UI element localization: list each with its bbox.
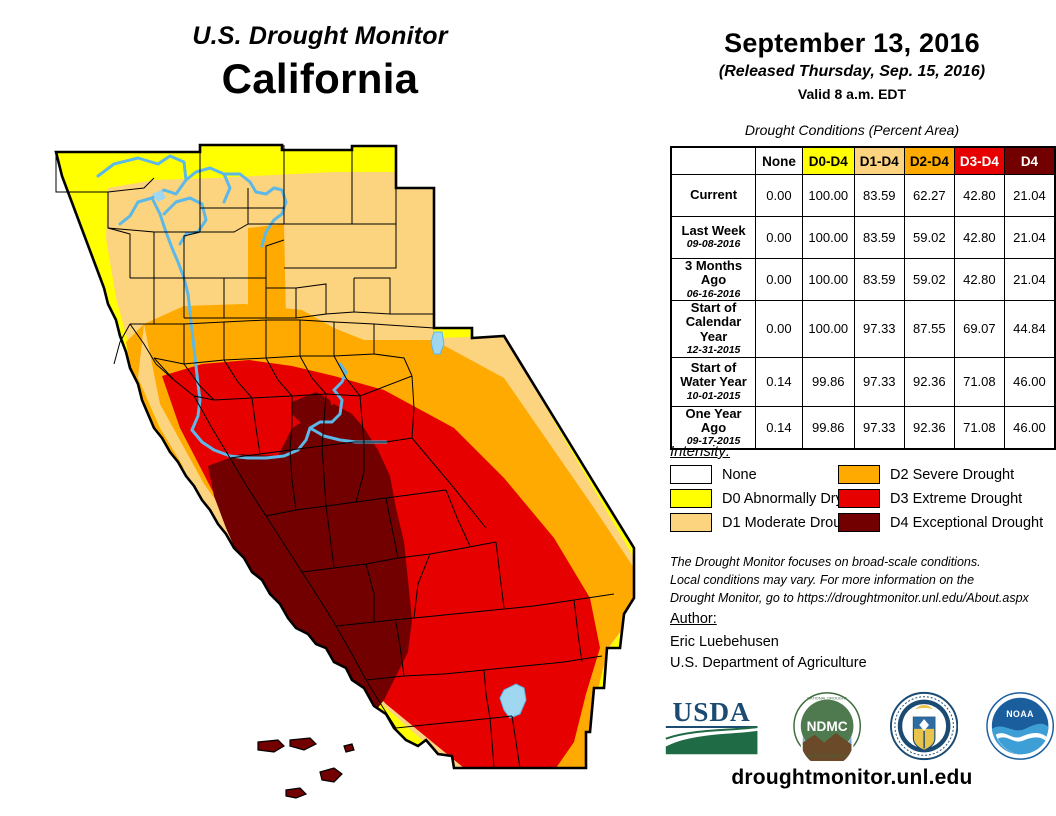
drought-conditions-table: None D0-D4 D1-D4 D2-D4 D3-D4 D4 Current0… — [670, 146, 1056, 450]
website-url[interactable]: droughtmonitor.unl.edu — [648, 766, 1056, 790]
note-line-1: The Drought Monitor focuses on broad-sca… — [670, 553, 1029, 571]
legend-item-right-2: D4 Exceptional Drought — [838, 513, 1043, 532]
cell-r0-c2: 83.59 — [854, 175, 904, 217]
release-date: (Released Thursday, Sep. 15, 2016) — [648, 63, 1056, 81]
cell-r3-c5: 44.84 — [1004, 301, 1055, 357]
legend-swatch — [670, 513, 712, 532]
legend-label: D3 Extreme Drought — [890, 491, 1022, 507]
legend-label: D2 Severe Drought — [890, 467, 1014, 483]
legend-item-right-0: D2 Severe Drought — [838, 465, 1014, 484]
row-label-0: Current — [671, 175, 756, 217]
cell-r5-c3: 92.36 — [904, 406, 954, 449]
author-org: U.S. Department of Agriculture — [670, 653, 867, 674]
cell-r0-c3: 62.27 — [904, 175, 954, 217]
cell-r5-c1: 99.86 — [802, 406, 854, 449]
author-heading: Author: — [670, 611, 717, 627]
col-header-d2-d4: D2-D4 — [904, 147, 954, 175]
legend-label: None — [722, 467, 757, 483]
legend-label: D0 Abnormally Dry — [722, 491, 843, 507]
legend-item-left-1: D0 Abnormally Dry — [670, 489, 843, 508]
table-row: Start ofWater Year10-01-20150.1499.8697.… — [671, 357, 1055, 406]
channel-islands — [258, 738, 354, 798]
cell-r3-c3: 87.55 — [904, 301, 954, 357]
cell-r3-c0: 0.00 — [756, 301, 803, 357]
cell-r1-c4: 42.80 — [954, 217, 1004, 259]
page-title: California — [0, 55, 640, 103]
cell-r0-c4: 42.80 — [954, 175, 1004, 217]
author-name: Eric Luebehusen — [670, 632, 867, 653]
author-block: Eric Luebehusen U.S. Department of Agric… — [670, 632, 867, 674]
col-header-d4: D4 — [1004, 147, 1055, 175]
row-date-3: 12-31-2015 — [672, 345, 755, 357]
cell-r5-c5: 46.00 — [1004, 406, 1055, 449]
svg-text:UNIV. OF NEBRASKA: UNIV. OF NEBRASKA — [808, 753, 847, 758]
cell-r4-c3: 92.36 — [904, 357, 954, 406]
cell-r2-c5: 21.04 — [1004, 259, 1055, 301]
legend-label: D4 Exceptional Drought — [890, 515, 1043, 531]
note-line-2: Local conditions may vary. For more info… — [670, 571, 1029, 589]
california-drought-map — [34, 128, 646, 800]
cell-r5-c2: 97.33 — [854, 406, 904, 449]
svg-text:NOAA: NOAA — [1006, 709, 1034, 719]
row-date-4: 10-01-2015 — [672, 391, 755, 403]
ndmc-logo[interactable]: NDMC NATIONAL DROUGHT UNIV. OF NEBRASKA — [793, 691, 861, 761]
cell-r4-c4: 71.08 — [954, 357, 1004, 406]
cell-r0-c5: 21.04 — [1004, 175, 1055, 217]
legend-swatch — [670, 489, 712, 508]
table-header-row: None D0-D4 D1-D4 D2-D4 D3-D4 D4 — [671, 147, 1055, 175]
cell-r2-c0: 0.00 — [756, 259, 803, 301]
table-row: 3 Months Ago06-16-20160.00100.0083.5959.… — [671, 259, 1055, 301]
cell-r4-c2: 97.33 — [854, 357, 904, 406]
commerce-seal[interactable] — [890, 691, 958, 761]
product-title: U.S. Drought Monitor — [0, 22, 640, 51]
cell-r3-c4: 69.07 — [954, 301, 1004, 357]
legend-item-right-1: D3 Extreme Drought — [838, 489, 1022, 508]
row-label-3: Start ofCalendar Year12-31-2015 — [671, 301, 756, 357]
cell-r1-c2: 83.59 — [854, 217, 904, 259]
table-row: Last Week09-08-20160.00100.0083.5959.024… — [671, 217, 1055, 259]
cell-r3-c1: 100.00 — [802, 301, 854, 357]
cell-r2-c2: 83.59 — [854, 259, 904, 301]
cell-r0-c1: 100.00 — [802, 175, 854, 217]
svg-text:USDA: USDA — [673, 697, 751, 727]
cell-r1-c3: 59.02 — [904, 217, 954, 259]
cell-r5-c0: 0.14 — [756, 406, 803, 449]
table-row: Current0.00100.0083.5962.2742.8021.04 — [671, 175, 1055, 217]
noaa-logo[interactable]: NOAA — [986, 691, 1054, 761]
cell-r4-c1: 99.86 — [802, 357, 854, 406]
intensity-heading: Intensity: — [670, 443, 730, 460]
valid-time: Valid 8 a.m. EDT — [648, 86, 1056, 102]
note-line-3: Drought Monitor, go to https://droughtmo… — [670, 589, 1029, 607]
svg-text:NATIONAL DROUGHT: NATIONAL DROUGHT — [807, 696, 847, 701]
table-row: Start ofCalendar Year12-31-20150.00100.0… — [671, 301, 1055, 357]
cell-r3-c2: 97.33 — [854, 301, 904, 357]
col-header-d1-d4: D1-D4 — [854, 147, 904, 175]
cell-r1-c1: 100.00 — [802, 217, 854, 259]
cell-r4-c0: 0.14 — [756, 357, 803, 406]
col-header-d0-d4: D0-D4 — [802, 147, 854, 175]
legend-item-left-0: None — [670, 465, 757, 484]
usda-logo[interactable]: USDA — [658, 691, 765, 761]
cell-r5-c4: 71.08 — [954, 406, 1004, 449]
drought-intensity-layers — [34, 128, 646, 800]
report-date: September 13, 2016 — [648, 28, 1056, 59]
legend-swatch — [838, 513, 880, 532]
cell-r1-c0: 0.00 — [756, 217, 803, 259]
header-corner — [671, 147, 756, 175]
cell-r4-c5: 46.00 — [1004, 357, 1055, 406]
svg-text:NDMC: NDMC — [807, 719, 848, 734]
table-caption: Drought Conditions (Percent Area) — [648, 122, 1056, 138]
map-title-block: U.S. Drought Monitor California — [0, 22, 640, 103]
col-header-none: None — [756, 147, 803, 175]
cell-r2-c4: 42.80 — [954, 259, 1004, 301]
legend-item-left-2: D1 Moderate Drought — [670, 513, 861, 532]
disclaimer-note: The Drought Monitor focuses on broad-sca… — [670, 553, 1029, 607]
row-label-2: 3 Months Ago06-16-2016 — [671, 259, 756, 301]
cell-r2-c1: 100.00 — [802, 259, 854, 301]
cell-r2-c3: 59.02 — [904, 259, 954, 301]
legend-swatch — [670, 465, 712, 484]
info-panel: September 13, 2016 (Released Thursday, S… — [648, 0, 1056, 816]
row-date-2: 06-16-2016 — [672, 289, 755, 301]
col-header-d3-d4: D3-D4 — [954, 147, 1004, 175]
legend-swatch — [838, 465, 880, 484]
row-label-4: Start ofWater Year10-01-2015 — [671, 357, 756, 406]
row-label-1: Last Week09-08-2016 — [671, 217, 756, 259]
row-date-1: 09-08-2016 — [672, 239, 755, 251]
legend-swatch — [838, 489, 880, 508]
agency-logos: USDA NDMC NATIONAL DROUGHT UNIV. OF NEBR… — [658, 690, 1054, 762]
cell-r1-c5: 21.04 — [1004, 217, 1055, 259]
cell-r0-c0: 0.00 — [756, 175, 803, 217]
